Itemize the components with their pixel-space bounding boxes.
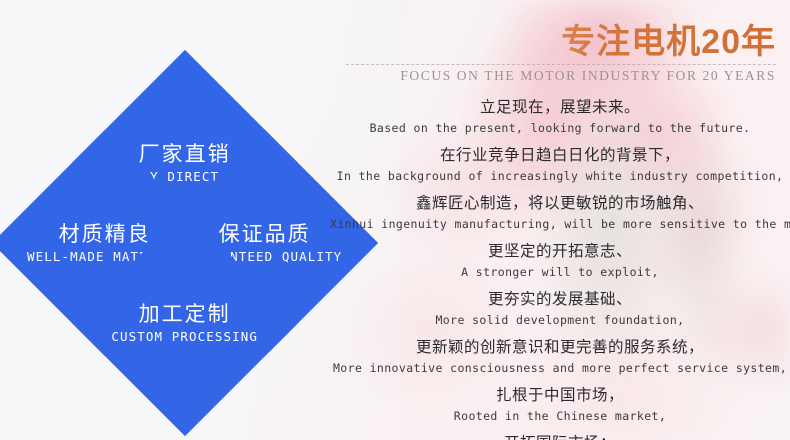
statement-line-cn: 鑫辉匠心制造，将以更敏锐的市场触角、	[330, 192, 790, 215]
statement-line-en: Based on the present, looking forward to…	[330, 119, 790, 138]
statement-line-en: A stronger will to exploit,	[330, 263, 790, 282]
statement-line: 立足现在，展望未来。 Based on the present, looking…	[330, 96, 790, 138]
banner-header: 专注电机20年 FOCUS ON THE MOTOR INDUSTRY FOR …	[346, 22, 776, 86]
statement-line-cn: 更新颖的创新意识和更完善的服务系统，	[330, 336, 790, 359]
statement-line-en: More solid development foundation,	[330, 311, 790, 330]
statement-line-cn: 扎根于中国市场，	[330, 384, 790, 407]
statement-line-cn: 更夯实的发展基础、	[330, 288, 790, 311]
headline-chinese: 专注电机20年	[346, 22, 776, 62]
feature-diamond-cluster: 厂家直销 FACTORY DIRECT SALES 材质精良 WELL-MADE…	[22, 80, 348, 406]
statement-line: 在行业竞争日趋白日化的背景下， In the background of inc…	[330, 144, 790, 186]
statement-line: 扎根于中国市场， Rooted in the Chinese market,	[330, 384, 790, 426]
statement-line: 更坚定的开拓意志、 A stronger will to exploit,	[330, 240, 790, 282]
statement-line-en: In the background of increasingly white …	[330, 167, 790, 186]
statement-line-en: Rooted in the Chinese market,	[330, 407, 790, 426]
statement-line-cn: 在行业竞争日趋白日化的背景下，	[330, 144, 790, 167]
statement-line-en: More innovative consciousness and more p…	[330, 359, 790, 378]
diamond-label-cn: 加工定制	[80, 301, 290, 328]
statement-line: 更夯实的发展基础、 More solid development foundat…	[330, 288, 790, 330]
diamond-label-group: 加工定制 CUSTOM PROCESSING	[80, 301, 290, 346]
statement-line-cn: 更坚定的开拓意志、	[330, 240, 790, 263]
header-dashed-divider	[346, 64, 776, 65]
company-statement: 立足现在，展望未来。 Based on the present, looking…	[330, 96, 790, 440]
statement-line: 鑫辉匠心制造，将以更敏锐的市场触角、 Xinhui ingenuity manu…	[330, 192, 790, 234]
statement-line-cn: 立足现在，展望未来。	[330, 96, 790, 119]
statement-line: 开拓国际市场； To expand the international mark…	[330, 432, 790, 440]
headline-english: FOCUS ON THE MOTOR INDUSTRY FOR 20 YEARS	[346, 66, 776, 86]
statement-line-en: Xinhui ingenuity manufacturing, will be …	[330, 215, 790, 234]
statement-line-cn: 开拓国际市场；	[330, 432, 790, 440]
promo-banner: 专注电机20年 FOCUS ON THE MOTOR INDUSTRY FOR …	[0, 0, 790, 440]
diamond-label-en: CUSTOM PROCESSING	[80, 328, 290, 346]
statement-line: 更新颖的创新意识和更完善的服务系统， More innovative consc…	[330, 336, 790, 378]
